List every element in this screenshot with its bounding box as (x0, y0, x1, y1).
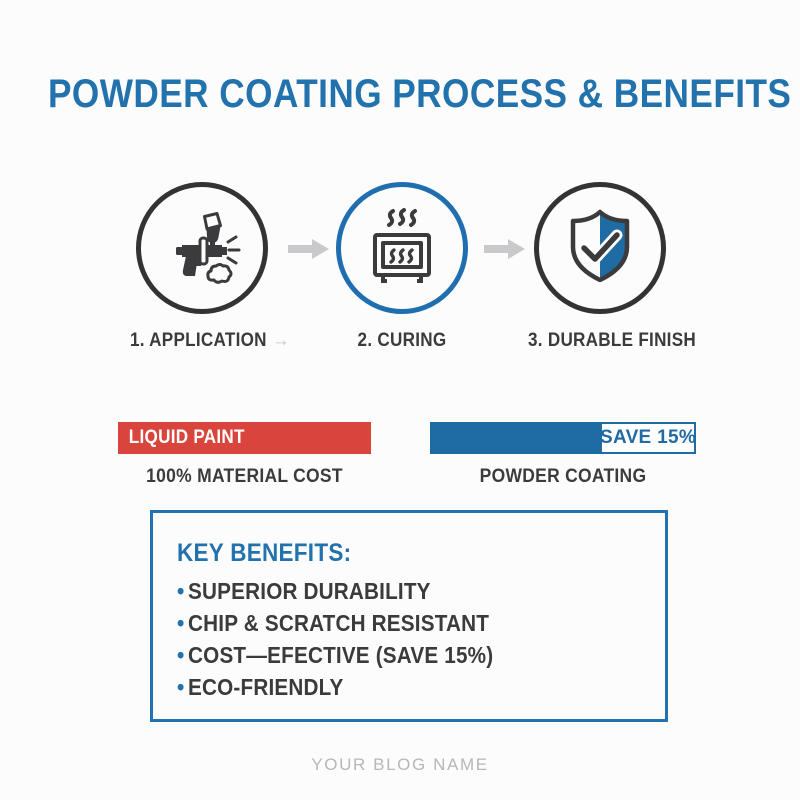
key-benefits-box: KEY BENEFITS: •SUPERIOR DURABILITY •CHIP… (150, 510, 668, 722)
benefit-item: •ECO-FRIENDLY (177, 671, 616, 703)
benefit-item-label: SUPERIOR DURABILITY (188, 578, 431, 604)
benefit-item-label: ECO-FRIENDLY (188, 674, 344, 700)
benefit-item: •SUPERIOR DURABILITY (177, 575, 616, 607)
inline-arrow-icon: → (272, 330, 289, 351)
footer-blog-name: YOUR BLOG NAME (0, 755, 800, 775)
bullet-icon: • (177, 610, 184, 636)
step-label-application: 1. APPLICATION→ (130, 330, 274, 352)
benefit-item-label: COST—EFECTIVE (SAVE 15%) (188, 642, 493, 668)
process-step-curing: 2. CURING (322, 182, 482, 352)
bullet-icon: • (177, 642, 184, 668)
liquid-paint-bar: LIQUID PAINT (118, 422, 371, 454)
process-step-application: 1. APPLICATION→ (122, 182, 282, 352)
shield-check-icon (560, 206, 640, 291)
liquid-paint-caption: 100% MATERIAL COST (128, 466, 361, 488)
bullet-icon: • (177, 674, 184, 700)
save-badge: SAVE 15% (600, 422, 696, 454)
powder-coating-bar: SAVE 15% (430, 422, 696, 454)
process-step-durable-finish: 3. DURABLE FINISH (520, 182, 680, 352)
curing-oven-icon (361, 205, 443, 292)
benefit-item: •COST—EFECTIVE (SAVE 15%) (177, 639, 616, 671)
cost-comparison: LIQUID PAINT 100% MATERIAL COST SAVE 15%… (0, 422, 800, 500)
page-title: POWDER COATING PROCESS & BENEFITS (48, 72, 752, 117)
step-circle-curing (336, 182, 468, 314)
infographic-canvas: POWDER COATING PROCESS & BENEFITS (0, 0, 800, 800)
powder-coating-group: SAVE 15% POWDER COATING (430, 422, 696, 488)
bullet-icon: • (177, 578, 184, 604)
liquid-paint-bar-label: LIQUID PAINT (118, 427, 245, 449)
benefit-item: •CHIP & SCRATCH RESISTANT (177, 607, 616, 639)
benefit-item-label: CHIP & SCRATCH RESISTANT (188, 610, 489, 636)
process-steps-row: 1. APPLICATION→ (0, 182, 800, 362)
powder-coating-caption: POWDER COATING (441, 466, 686, 488)
step-circle-application (136, 182, 268, 314)
step-label-durable-finish: 3. DURABLE FINISH (528, 330, 672, 352)
step-circle-durable-finish (534, 182, 666, 314)
spray-gun-icon (160, 204, 244, 293)
liquid-paint-group: LIQUID PAINT 100% MATERIAL COST (118, 422, 371, 488)
key-benefits-heading: KEY BENEFITS: (177, 539, 616, 568)
step-label-curing: 2. CURING (330, 330, 474, 352)
